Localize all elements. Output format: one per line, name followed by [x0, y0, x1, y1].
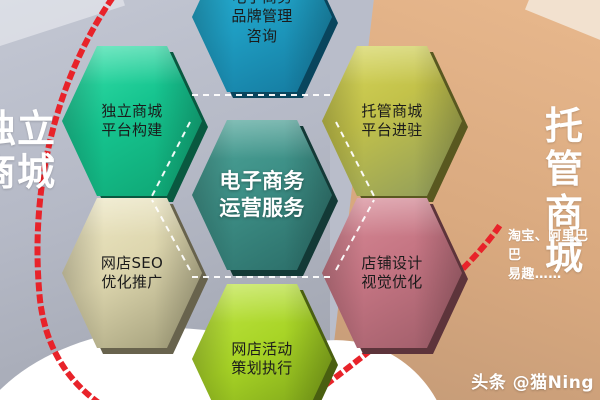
hexagon-center-label: 电子商务 运营服务 — [219, 168, 304, 223]
side-note-right-platforms: 淘宝、阿里巴巴 易趣…… — [508, 228, 600, 285]
side-caption-left: 独立 商城 — [0, 108, 56, 195]
hexagon-hosted-mall-label: 托管商城 平台进驻 — [361, 102, 422, 140]
hexagon-independent-mall-label: 独立商城 平台构建 — [101, 102, 162, 140]
watermark-credit: 头条 @猫Ning — [471, 368, 594, 393]
hexagon-brand-management-label: 电子商务 品牌管理 咨询 — [231, 0, 292, 46]
infographic-canvas: 电子商务 品牌管理 咨询 独立商城 平台构建 托管商城 平台进驻 网店SEO 优… — [0, 0, 600, 400]
hexagon-seo-promotion-label: 网店SEO 优化推广 — [101, 254, 163, 292]
hexagon-shop-design-label: 店铺设计 视觉优化 — [361, 254, 422, 292]
hexagon-campaign-execution-label: 网店活动 策划执行 — [231, 340, 292, 378]
